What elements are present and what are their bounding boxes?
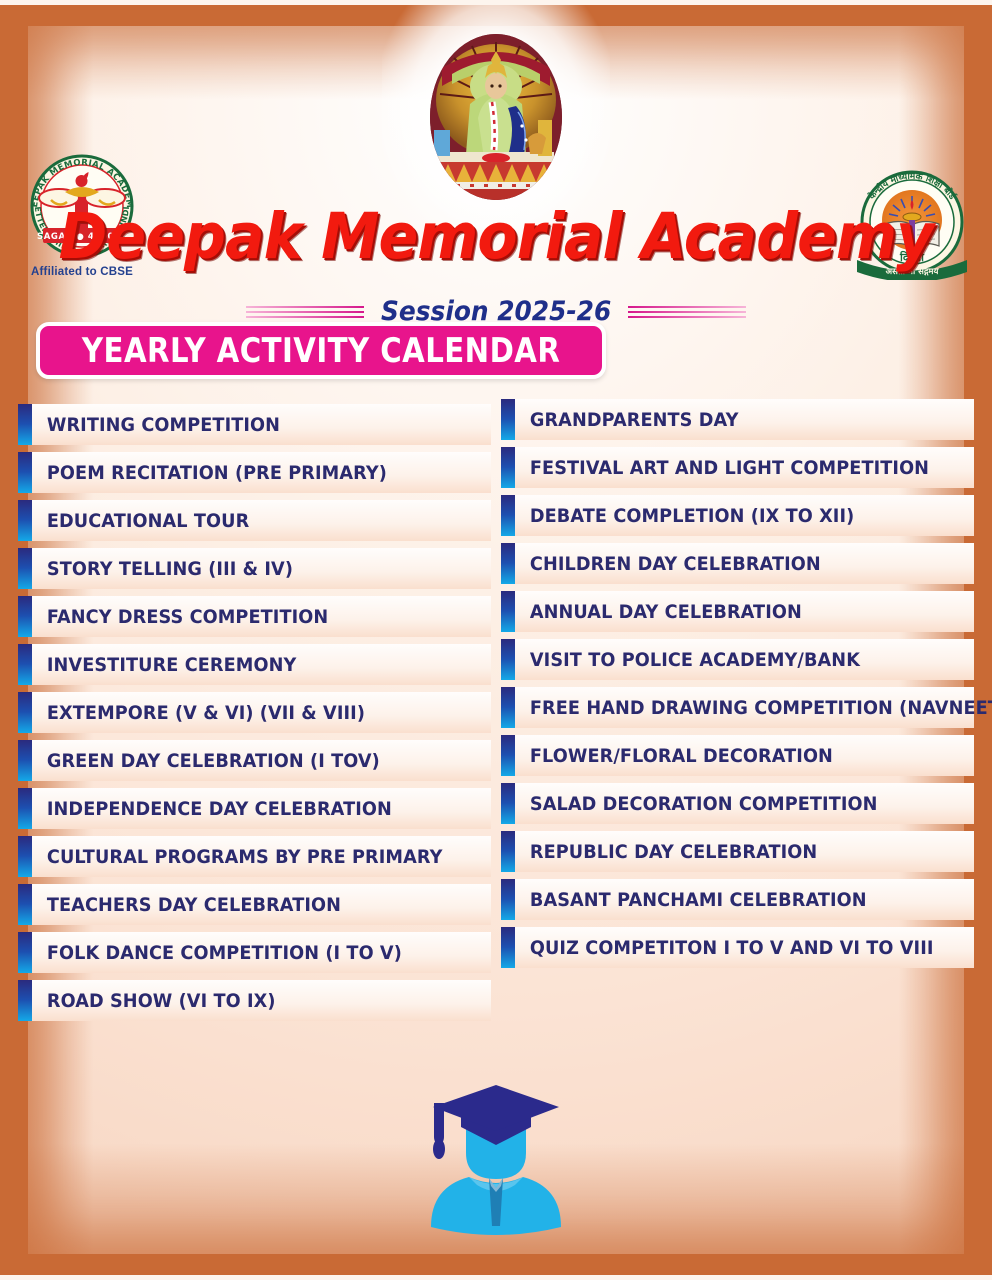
activity-row: GRANDPARENTS DAY <box>501 399 974 440</box>
activity-row: EDUCATIONAL TOUR <box>18 500 491 541</box>
activity-columns: WRITING COMPETITIONPOEM RECITATION (PRE … <box>18 404 974 1028</box>
activity-row: ROAD SHOW (VI TO IX) <box>18 980 491 1021</box>
activity-row-tab <box>501 879 515 920</box>
activity-label: CULTURAL PROGRAMS BY PRE PRIMARY <box>32 846 442 868</box>
deity-photo-container <box>430 34 562 200</box>
activity-row-tab <box>18 548 32 589</box>
activity-row: REPUBLIC DAY CELEBRATION <box>501 831 974 872</box>
activity-row: FOLK DANCE COMPETITION (I TO V) <box>18 932 491 973</box>
activity-row: FESTIVAL ART AND LIGHT COMPETITION <box>501 447 974 488</box>
activity-row-tab <box>501 783 515 824</box>
activity-label: INVESTITURE CEREMONY <box>32 654 296 676</box>
activity-row: GREEN DAY CELEBRATION (I TOV) <box>18 740 491 781</box>
activity-label: VISIT TO POLICE ACADEMY/BANK <box>515 649 860 671</box>
activity-row: SALAD DECORATION COMPETITION <box>501 783 974 824</box>
activity-label: REPUBLIC DAY CELEBRATION <box>515 841 817 863</box>
activity-label: FLOWER/FLORAL DECORATION <box>515 745 833 767</box>
activity-row: CULTURAL PROGRAMS BY PRE PRIMARY <box>18 836 491 877</box>
activity-row-tab <box>18 692 32 733</box>
activity-row: FREE HAND DRAWING COMPETITION (NAVNEET) <box>501 687 974 728</box>
activity-row: DEBATE COMPLETION (IX TO XII) <box>501 495 974 536</box>
activity-label: CHILDREN DAY CELEBRATION <box>515 553 821 575</box>
activity-row: INVESTITURE CEREMONY <box>18 644 491 685</box>
activity-row: VISIT TO POLICE ACADEMY/BANK <box>501 639 974 680</box>
activity-row-tab <box>501 495 515 536</box>
activity-row-tab <box>18 788 32 829</box>
activity-row: BASANT PANCHAMI CELEBRATION <box>501 879 974 920</box>
activity-row-tab <box>18 644 32 685</box>
activity-row: WRITING COMPETITION <box>18 404 491 445</box>
activity-row-tab <box>18 452 32 493</box>
activity-row-tab <box>18 980 32 1021</box>
activity-label: FOLK DANCE COMPETITION (I TO V) <box>32 942 402 964</box>
activity-label: TEACHERS DAY CELEBRATION <box>32 894 341 916</box>
session-rule-right <box>628 306 746 318</box>
activity-row: STORY TELLING (III & IV) <box>18 548 491 589</box>
activity-calendar-poster: DEEPAK MEMORIAL ACADEMY BETTER CHILD STR… <box>0 0 992 1280</box>
session-rule-left <box>246 306 364 318</box>
activity-row: TEACHERS DAY CELEBRATION <box>18 884 491 925</box>
activity-label: WRITING COMPETITION <box>32 414 280 436</box>
activity-row-tab <box>501 591 515 632</box>
activity-row-tab <box>18 404 32 445</box>
activity-label: POEM RECITATION (PRE PRIMARY) <box>32 462 387 484</box>
activity-row-tab <box>501 687 515 728</box>
yearly-activity-calendar-banner: YEARLY ACTIVITY CALENDAR <box>36 322 606 379</box>
activity-row-tab <box>501 399 515 440</box>
activity-row: EXTEMPORE (V & VI) (VII & VIII) <box>18 692 491 733</box>
activity-label: BASANT PANCHAMI CELEBRATION <box>515 889 867 911</box>
activity-row-tab <box>501 543 515 584</box>
activity-label: DEBATE COMPLETION (IX TO XII) <box>515 505 854 527</box>
activity-row-tab <box>18 836 32 877</box>
activity-row-tab <box>501 735 515 776</box>
activity-row: FLOWER/FLORAL DECORATION <box>501 735 974 776</box>
activity-row-tab <box>501 831 515 872</box>
activity-row: INDEPENDENCE DAY CELEBRATION <box>18 788 491 829</box>
school-name-title: Deepak Memorial Academy <box>35 205 958 268</box>
activity-label: EDUCATIONAL TOUR <box>32 510 249 532</box>
graduate-student-icon <box>411 1077 581 1242</box>
activity-column-left: WRITING COMPETITIONPOEM RECITATION (PRE … <box>18 404 491 1028</box>
activity-row: CHILDREN DAY CELEBRATION <box>501 543 974 584</box>
activity-row-tab <box>18 884 32 925</box>
activity-label: EXTEMPORE (V & VI) (VII & VIII) <box>32 702 365 724</box>
activity-label: GREEN DAY CELEBRATION (I TOV) <box>32 750 380 772</box>
activity-label: FREE HAND DRAWING COMPETITION (NAVNEET) <box>515 697 992 719</box>
deity-idol-photo <box>430 34 562 200</box>
activity-row: QUIZ COMPETITON I TO V AND VI TO VIII <box>501 927 974 968</box>
activity-row-tab <box>18 740 32 781</box>
activity-row-tab <box>501 927 515 968</box>
activity-label: STORY TELLING (III & IV) <box>32 558 293 580</box>
activity-label: GRANDPARENTS DAY <box>515 409 738 431</box>
activity-label: ANNUAL DAY CELEBRATION <box>515 601 802 623</box>
activity-label: INDEPENDENCE DAY CELEBRATION <box>32 798 392 820</box>
activity-row-tab <box>18 500 32 541</box>
activity-label: SALAD DECORATION COMPETITION <box>515 793 878 815</box>
activity-row: FANCY DRESS COMPETITION <box>18 596 491 637</box>
activity-row: POEM RECITATION (PRE PRIMARY) <box>18 452 491 493</box>
activity-row-tab <box>18 596 32 637</box>
poster-bottom-edge <box>0 1275 992 1280</box>
activity-row-tab <box>501 447 515 488</box>
banner-title: YEARLY ACTIVITY CALENDAR <box>82 331 560 371</box>
poster-top-edge <box>0 0 992 5</box>
activity-label: ROAD SHOW (VI TO IX) <box>32 990 276 1012</box>
activity-label: QUIZ COMPETITON I TO V AND VI TO VIII <box>515 937 934 959</box>
activity-row-tab <box>501 639 515 680</box>
activity-label: FESTIVAL ART AND LIGHT COMPETITION <box>515 457 929 479</box>
activity-row: ANNUAL DAY CELEBRATION <box>501 591 974 632</box>
activity-label: FANCY DRESS COMPETITION <box>32 606 328 628</box>
activity-row-tab <box>18 932 32 973</box>
activity-column-right: GRANDPARENTS DAYFESTIVAL ART AND LIGHT C… <box>501 399 974 1028</box>
